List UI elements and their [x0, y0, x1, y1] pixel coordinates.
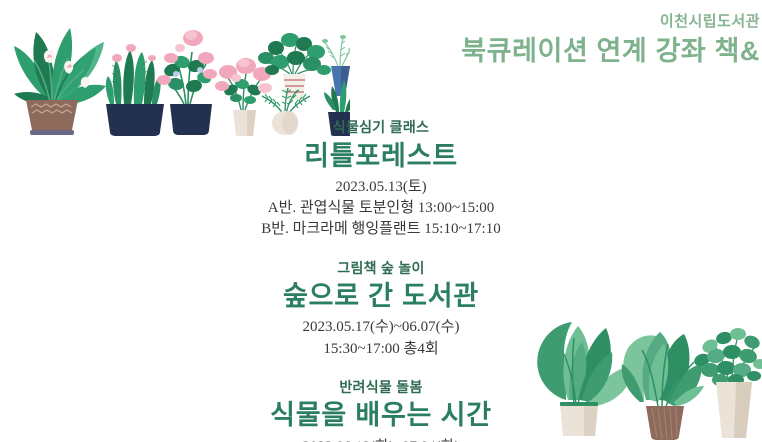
program-title: 식물을 배우는 시간 — [0, 398, 762, 433]
program-detail-line: 2023.06.13(화)~07.04(화) — [0, 437, 762, 442]
program-item-forest-library: 그림책 숲 놀이 숲으로 간 도서관 2023.05.17(수)~06.07(수… — [0, 259, 762, 360]
program-detail-line: A반. 관엽식물 토분인형 13:00~15:00 — [0, 198, 762, 219]
round-leaf-striped-pot-plant — [258, 33, 331, 100]
program-detail-line: 15:30~17:00 총4회 — [0, 339, 762, 360]
program-detail-line: 2023.05.13(토) — [0, 177, 762, 198]
program-list: 식물심기 클래스 리틀포레스트 2023.05.13(토) A반. 관엽식물 토… — [0, 118, 762, 442]
poster-main-title: 북큐레이션 연계 강좌 책& — [332, 35, 760, 69]
poster-header: 이천시립도서관 북큐레이션 연계 강좌 책& — [332, 12, 762, 68]
program-kicker: 반려식물 돌봄 — [0, 378, 762, 398]
program-title: 리틀포레스트 — [0, 139, 762, 174]
program-kicker: 식물심기 클래스 — [0, 118, 762, 138]
program-kicker: 그림책 숲 놀이 — [0, 259, 762, 279]
program-detail-line: 2023.05.17(수)~06.07(수) — [0, 317, 762, 338]
program-item-little-forest: 식물심기 클래스 리틀포레스트 2023.05.13(토) A반. 관엽식물 토… — [0, 118, 762, 241]
library-organization-name: 이천시립도서관 — [332, 12, 760, 32]
program-title: 숲으로 간 도서관 — [0, 279, 762, 314]
top-left-plant-illustration-group — [0, 8, 350, 136]
program-item-plant-learning-time: 반려식물 돌봄 식물을 배우는 시간 2023.06.13(화)~07.04(화… — [0, 378, 762, 442]
poster-canvas: 이천시립도서관 북큐레이션 연계 강좌 책& 식물심기 클래스 리틀포레스트 2… — [0, 0, 762, 442]
program-detail-line: B반. 마크라메 행잉플랜트 15:10~17:10 — [0, 219, 762, 240]
